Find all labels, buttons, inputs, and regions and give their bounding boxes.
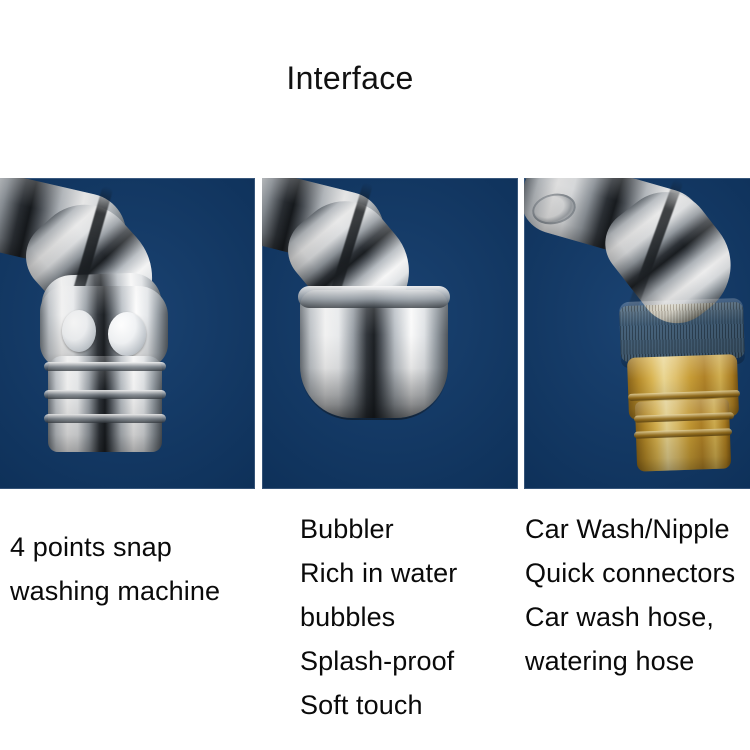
caption-line: washing machine	[10, 569, 260, 613]
caption-line: Car wash hose,	[525, 595, 750, 639]
brass-connector-body-icon	[627, 354, 739, 420]
caption-line: Splash-proof	[300, 639, 530, 683]
caption-line: Rich in water	[300, 551, 530, 595]
aerator-cap-lip-icon	[298, 286, 450, 308]
faucet-brand-emblem-icon	[529, 190, 578, 228]
product-image-panel-1	[0, 178, 255, 489]
snap-button-icon	[108, 312, 146, 356]
product-image-panel-3	[524, 178, 750, 489]
caption-column-2: Bubbler Rich in water bubbles Splash-pro…	[300, 489, 530, 727]
brass-groove-icon	[634, 412, 734, 422]
bubbler-aerator-cap-icon	[300, 290, 448, 418]
faucet-spout-upper-arm-icon	[0, 178, 134, 279]
caption-line: watering hose	[525, 639, 750, 683]
knurl-texture-icon	[619, 302, 745, 362]
faucet-spout-upper-arm-icon	[524, 178, 713, 274]
faucet-spout-neck-icon	[41, 272, 164, 360]
caption-line: Quick connectors	[525, 551, 750, 595]
product-image-panel-2	[262, 178, 518, 489]
caption-column-3: Car Wash/Nipple Quick connectors Car was…	[525, 489, 750, 683]
product-image-panel-row	[0, 178, 750, 489]
brass-groove-icon	[628, 390, 740, 401]
caption-column-1: 4 points snap washing machine	[10, 489, 260, 613]
faucet-spout-bend-icon	[592, 178, 750, 338]
caption-line: Soft touch	[300, 683, 530, 727]
aerator-cap-shadow-icon	[300, 368, 448, 420]
snap-collar-icon	[40, 286, 168, 368]
snap-button-icon	[62, 310, 96, 352]
barrel-ring-icon	[44, 362, 166, 371]
faucet-spout-bend-icon	[274, 182, 432, 343]
caption-line: Car Wash/Nipple	[525, 507, 750, 551]
connector-barrel-icon	[48, 356, 162, 452]
product-infographic-page: Interface	[0, 0, 750, 750]
barrel-ring-icon	[44, 414, 166, 423]
brass-groove-icon	[634, 428, 732, 438]
faucet-seam-shadow-icon	[626, 179, 683, 314]
brass-nipple-tip-icon	[635, 398, 731, 471]
caption-line: Bubbler	[300, 507, 530, 551]
caption-row: 4 points snap washing machine Bubbler Ri…	[0, 489, 750, 750]
faucet-seam-shadow-icon	[321, 182, 373, 325]
faucet-spout-upper-arm-icon	[262, 178, 392, 274]
brass-knurled-nut-icon	[619, 298, 745, 368]
page-title: Interface	[0, 58, 700, 98]
caption-line: 4 points snap	[10, 525, 260, 569]
barrel-ring-icon	[44, 390, 166, 399]
faucet-spout-bend-icon	[11, 184, 177, 352]
caption-line: bubbles	[300, 595, 530, 639]
faucet-seam-shadow-icon	[62, 185, 114, 332]
